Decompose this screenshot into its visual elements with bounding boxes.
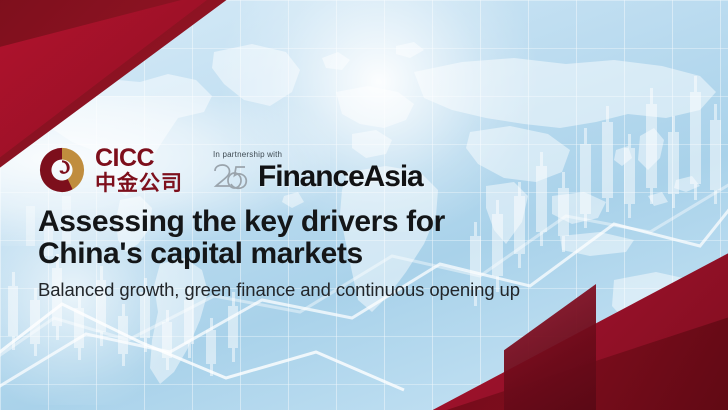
- headline-line-2: China's capital markets: [38, 238, 558, 270]
- cicc-wordmark: CICC 中金公司: [95, 146, 183, 194]
- cicc-logo: CICC 中金公司: [38, 146, 183, 194]
- cicc-chinese-name: 中金公司: [95, 173, 183, 194]
- 25-anniversary-icon: [211, 162, 251, 192]
- partner-lockup: FinanceAsia: [211, 162, 423, 192]
- page-subtitle: Balanced growth, green finance and conti…: [38, 279, 688, 301]
- headline-line-1: Assessing the key drivers for: [38, 205, 445, 238]
- financeasia-wordmark: FinanceAsia: [258, 162, 423, 192]
- partnership-block: In partnership with FinanceAsia: [211, 150, 423, 194]
- partnership-label: In partnership with: [213, 150, 423, 159]
- cicc-latin-name: CICC: [95, 146, 183, 171]
- page-title: Assessing the key drivers for China's ca…: [38, 206, 558, 270]
- banner-content: CICC 中金公司 In partnership with FinanceAsi…: [38, 138, 688, 301]
- promo-banner: CICC 中金公司 In partnership with FinanceAsi…: [0, 0, 728, 410]
- logo-row: CICC 中金公司 In partnership with FinanceAsi…: [38, 138, 688, 194]
- cicc-ring-logo-icon: [38, 146, 86, 194]
